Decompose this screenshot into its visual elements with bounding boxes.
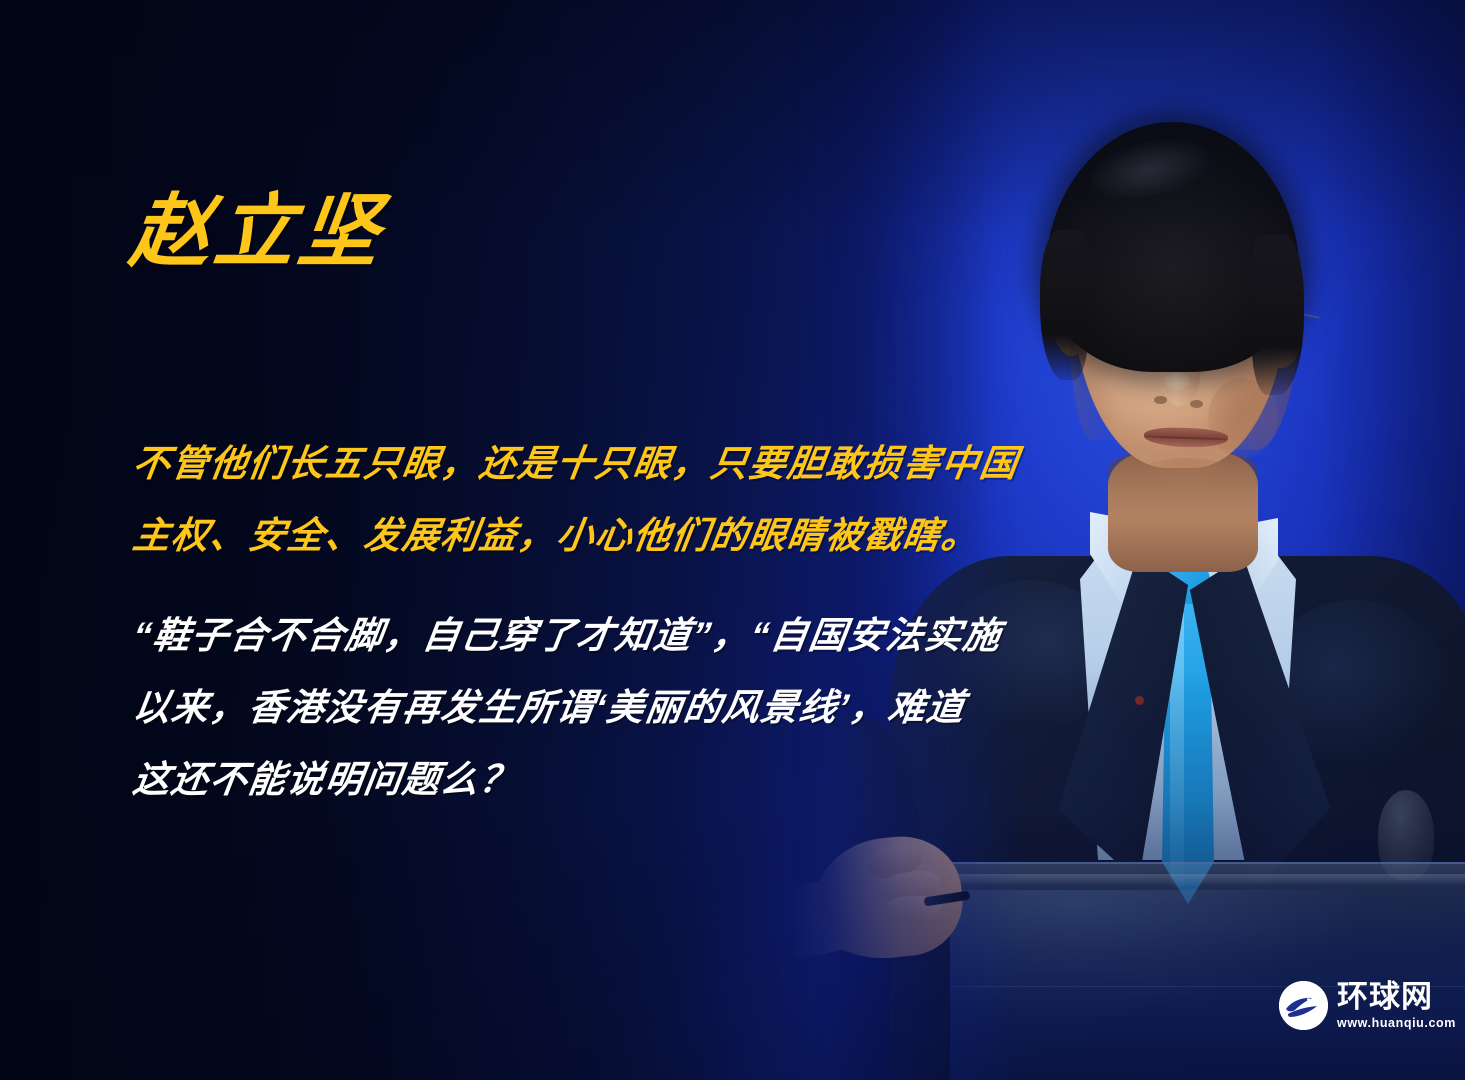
quote-block: 不管他们长五只眼，还是十只眼，只要胆敢损害中国 主权、安全、发展利益，小心他们的… xyxy=(133,428,933,816)
quote-card: 赵立坚 不管他们长五只眼，还是十只眼，只要胆敢损害中国 主权、安全、发展利益，小… xyxy=(0,0,1465,1080)
quote-line-yellow-2: 主权、安全、发展利益，小心他们的眼睛被戳瞎。 xyxy=(128,500,938,572)
logo-url: www.huanqiu.com xyxy=(1337,1017,1456,1030)
logo-text: 环球网 www.huanqiu.com xyxy=(1337,981,1456,1030)
page-title: 赵立坚 xyxy=(126,192,388,272)
quote-line-yellow-1: 不管他们长五只眼，还是十只眼，只要胆敢损害中国 xyxy=(128,428,938,500)
quote-spacer xyxy=(133,572,933,600)
logo-name: 环球网 xyxy=(1337,981,1456,1012)
quote-line-white-3: 这还不能说明问题么？ xyxy=(128,744,938,816)
huanqiu-logo[interactable]: 环球网 www.huanqiu.com xyxy=(1279,981,1456,1030)
globe-bird-icon xyxy=(1279,981,1328,1030)
quote-line-white-2: 以来，香港没有再发生所谓‘美丽的风景线’，难道 xyxy=(128,672,938,744)
quote-line-white-1: “鞋子合不合脚，自己穿了才知道”，“自国安法实施 xyxy=(128,600,938,672)
